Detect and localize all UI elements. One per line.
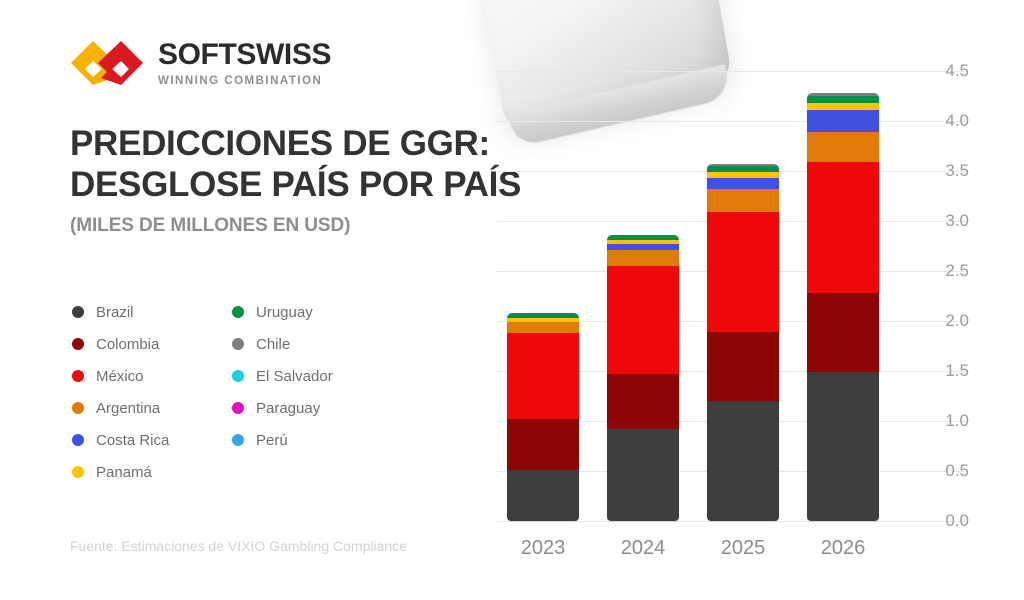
x-axis-label-2025: 2025	[693, 537, 793, 560]
legend-swatch-icon	[72, 338, 84, 350]
bar-segment-argentina[interactable]	[507, 322, 579, 333]
legend-item-label: Panamá	[96, 464, 152, 481]
page-title-line-1: PREDICCIONES DE GGR:	[70, 124, 540, 165]
page-subtitle: (MILES DE MILLONES EN USD)	[70, 215, 350, 237]
legend-item-label: Colombia	[96, 336, 159, 353]
bar-segment-costa-rica[interactable]	[707, 178, 779, 189]
legend-item-label: Uruguay	[256, 304, 313, 321]
bar-2023[interactable]	[507, 313, 579, 521]
legend-item-label: Chile	[256, 336, 290, 353]
legend-item-label: Paraguay	[256, 400, 320, 417]
legend-column-right: Uruguay Chile El Salvador Paraguay Perú	[232, 296, 392, 488]
infographic-root: SOFTSWISS WINNING COMBINATION PREDICCION…	[0, 0, 1024, 600]
source-note: Fuente: Estimaciones de VIXIO Gambling C…	[70, 538, 407, 554]
bar-segment-uruguay[interactable]	[807, 96, 879, 103]
chart-plot-area: 0.00.51.01.52.02.53.03.54.04.52023202420…	[497, 71, 917, 521]
y-axis-tick-label: 4.5	[925, 61, 969, 81]
brand-tagline: WINNING COMBINATION	[158, 75, 331, 87]
brand-logo: SOFTSWISS WINNING COMBINATION	[70, 38, 331, 87]
legend-item-label: El Salvador	[256, 368, 333, 385]
stacked-bar-chart: 0.00.51.01.52.02.53.03.54.04.52023202420…	[497, 60, 967, 532]
bar-segment-colombia[interactable]	[607, 374, 679, 429]
bar-segment-méxico[interactable]	[707, 212, 779, 332]
legend-item-panama[interactable]: Panamá	[72, 456, 232, 488]
bar-segment-colombia[interactable]	[507, 419, 579, 470]
softswiss-interlocking-chevrons-logo-icon	[70, 40, 144, 86]
page-title-line-2: DESGLOSE PAÍS POR PAÍS	[70, 165, 540, 206]
y-axis-tick-label: 2.0	[925, 311, 969, 331]
legend-item-colombia[interactable]: Colombia	[72, 328, 232, 360]
page-title: PREDICCIONES DE GGR: DESGLOSE PAÍS POR P…	[70, 124, 540, 206]
legend-item-paraguay[interactable]: Paraguay	[232, 392, 392, 424]
y-axis-tick-label: 1.0	[925, 411, 969, 431]
gridline	[497, 121, 967, 122]
legend-item-el-salvador[interactable]: El Salvador	[232, 360, 392, 392]
brand-name: SOFTSWISS	[158, 40, 331, 71]
legend-item-peru[interactable]: Perú	[232, 424, 392, 456]
legend-item-brazil[interactable]: Brazil	[72, 296, 232, 328]
legend-swatch-icon	[232, 306, 244, 318]
legend-item-argentina[interactable]: Argentina	[72, 392, 232, 424]
y-axis-tick-label: 0.0	[925, 511, 969, 531]
legend-item-label: Costa Rica	[96, 432, 169, 449]
y-axis-tick-label: 3.5	[925, 161, 969, 181]
legend-swatch-icon	[232, 402, 244, 414]
legend-swatch-icon	[232, 338, 244, 350]
x-axis-label-2024: 2024	[593, 537, 693, 560]
bar-2025[interactable]	[707, 164, 779, 521]
bar-segment-méxico[interactable]	[607, 266, 679, 374]
y-axis-tick-label: 3.0	[925, 211, 969, 231]
y-axis-tick-label: 4.0	[925, 111, 969, 131]
brand-logo-text: SOFTSWISS WINNING COMBINATION	[158, 38, 331, 87]
legend-item-chile[interactable]: Chile	[232, 328, 392, 360]
bar-segment-méxico[interactable]	[807, 162, 879, 293]
legend-item-uruguay[interactable]: Uruguay	[232, 296, 392, 328]
bar-segment-costa-rica[interactable]	[807, 110, 879, 132]
bar-segment-argentina[interactable]	[707, 189, 779, 212]
legend-swatch-icon	[72, 306, 84, 318]
gridline	[497, 71, 967, 72]
legend-swatch-icon	[72, 370, 84, 382]
bar-segment-colombia[interactable]	[707, 332, 779, 401]
bar-segment-argentina[interactable]	[807, 132, 879, 162]
legend-swatch-icon	[232, 370, 244, 382]
bar-2024[interactable]	[607, 235, 679, 521]
chart-legend: Brazil Colombia México Argentina Costa R…	[72, 296, 392, 488]
bar-segment-brazil[interactable]	[707, 401, 779, 521]
bar-segment-colombia[interactable]	[807, 293, 879, 372]
gridline	[497, 521, 967, 522]
bar-segment-brazil[interactable]	[807, 372, 879, 521]
x-axis-label-2023: 2023	[493, 537, 593, 560]
bar-2026[interactable]	[807, 93, 879, 521]
legend-item-label: Brazil	[96, 304, 134, 321]
legend-item-label: Perú	[256, 432, 288, 449]
legend-swatch-icon	[72, 434, 84, 446]
legend-column-left: Brazil Colombia México Argentina Costa R…	[72, 296, 232, 488]
legend-swatch-icon	[72, 402, 84, 414]
bar-segment-brazil[interactable]	[607, 429, 679, 521]
legend-swatch-icon	[232, 434, 244, 446]
legend-item-costa-rica[interactable]: Costa Rica	[72, 424, 232, 456]
legend-item-label: México	[96, 368, 144, 385]
bar-segment-brazil[interactable]	[507, 470, 579, 521]
y-axis-tick-label: 0.5	[925, 461, 969, 481]
y-axis-tick-label: 1.5	[925, 361, 969, 381]
y-axis-tick-label: 2.5	[925, 261, 969, 281]
bar-segment-méxico[interactable]	[507, 333, 579, 419]
legend-item-label: Argentina	[96, 400, 160, 417]
x-axis-label-2026: 2026	[793, 537, 893, 560]
legend-swatch-icon	[72, 466, 84, 478]
bar-segment-argentina[interactable]	[607, 250, 679, 266]
legend-item-mexico[interactable]: México	[72, 360, 232, 392]
bar-segment-panamá[interactable]	[807, 103, 879, 110]
